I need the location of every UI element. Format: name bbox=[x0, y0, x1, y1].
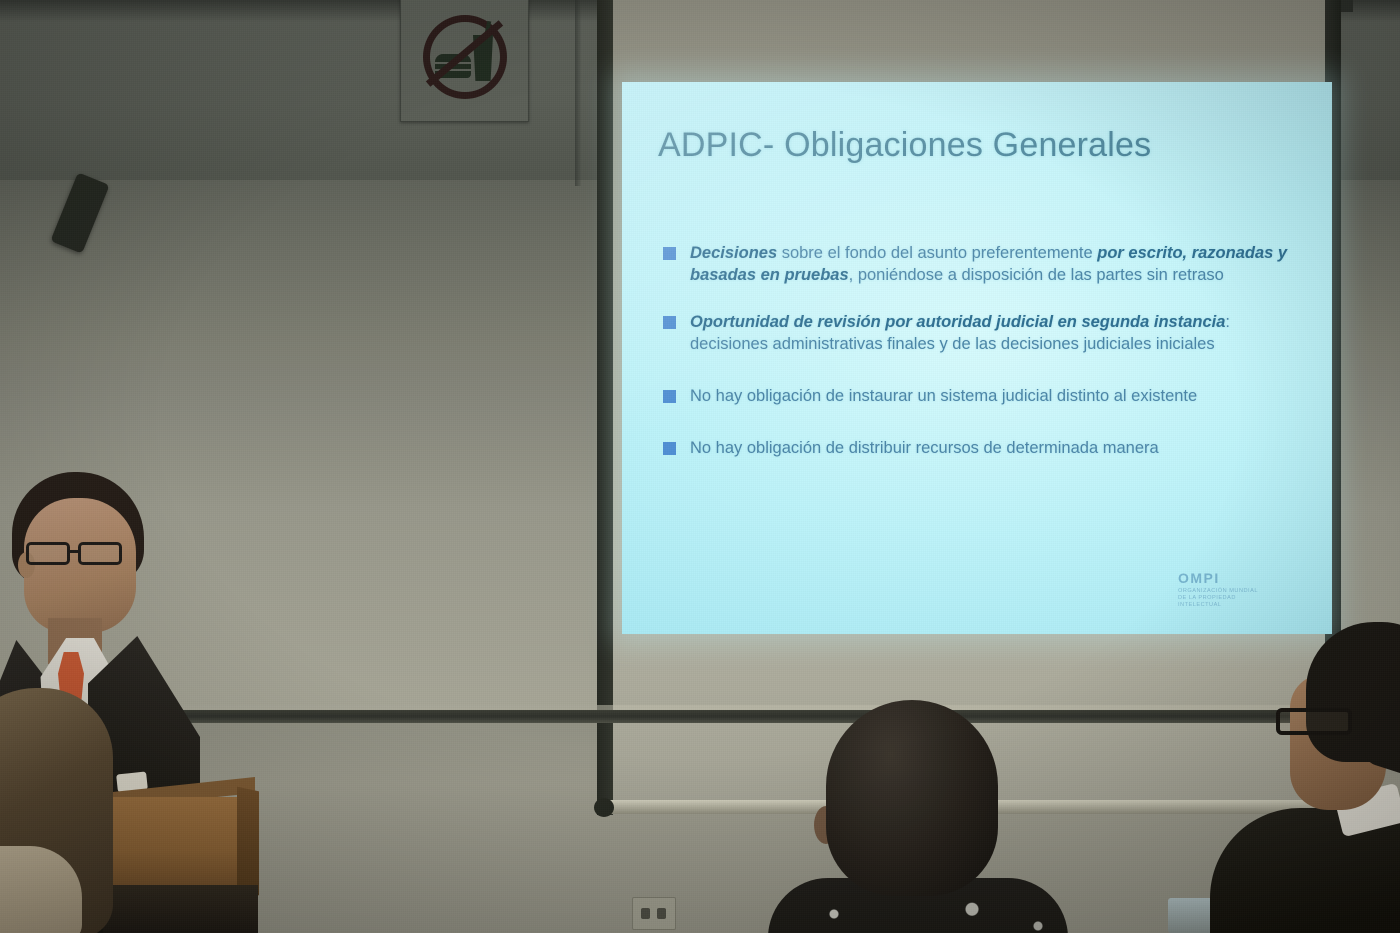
ompi-logo-subtitle: ORGANIZACIÓN MUNDIAL DE LA PROPIEDAD INT… bbox=[1178, 588, 1308, 609]
ompi-logo-name: OMPI bbox=[1178, 570, 1308, 586]
slide-bullet-text: Oportunidad de revisión por autoridad ju… bbox=[690, 313, 1230, 353]
screen-bar-knob bbox=[594, 798, 614, 817]
slide-bullet-text: No hay obligación de distribuir recursos… bbox=[690, 439, 1159, 457]
laptop-screen-glow bbox=[1168, 898, 1214, 933]
audience-right bbox=[1282, 622, 1400, 933]
audience-center bbox=[808, 700, 1018, 933]
lectern-base-shadow bbox=[103, 885, 258, 933]
bullet-square-icon bbox=[663, 442, 676, 455]
presentation-room-photo: ADPIC- Obligaciones Generales Decisiones… bbox=[0, 0, 1400, 933]
slide-bullet-item: Decisiones sobre el fondo del asunto pre… bbox=[660, 242, 1308, 286]
lectern-front-panel bbox=[103, 797, 241, 887]
screen-edge-left bbox=[597, 0, 613, 815]
slide-title: ADPIC- Obligaciones Generales bbox=[658, 126, 1298, 165]
power-outlet bbox=[632, 897, 676, 930]
no-food-or-drink-sign bbox=[400, 0, 529, 122]
presenter-glasses-icon bbox=[26, 542, 138, 566]
bullet-square-icon bbox=[663, 316, 676, 329]
projected-slide: ADPIC- Obligaciones Generales Decisiones… bbox=[622, 82, 1332, 634]
slide-bullet-item: No hay obligación de distribuir recursos… bbox=[660, 437, 1308, 459]
slide-bullet-item: Oportunidad de revisión por autoridad ju… bbox=[660, 311, 1308, 355]
audience-right-glasses-icon bbox=[1276, 708, 1352, 735]
slide-bullet-item: No hay obligación de instaurar un sistem… bbox=[660, 385, 1308, 407]
wooden-lectern bbox=[95, 785, 255, 933]
bullet-square-icon bbox=[663, 390, 676, 403]
wall-seam bbox=[575, 0, 581, 186]
slide-bullet-text: No hay obligación de instaurar un sistem… bbox=[690, 387, 1197, 405]
ompi-logo: OMPI ORGANIZACIÓN MUNDIAL DE LA PROPIEDA… bbox=[1178, 570, 1308, 609]
lectern-side-panel bbox=[237, 787, 259, 896]
audience-center-head bbox=[826, 700, 998, 896]
bullet-square-icon bbox=[663, 247, 676, 260]
slide-bullet-list: Decisiones sobre el fondo del asunto pre… bbox=[660, 242, 1308, 459]
slide-bullet-text: Decisiones sobre el fondo del asunto pre… bbox=[690, 244, 1287, 284]
